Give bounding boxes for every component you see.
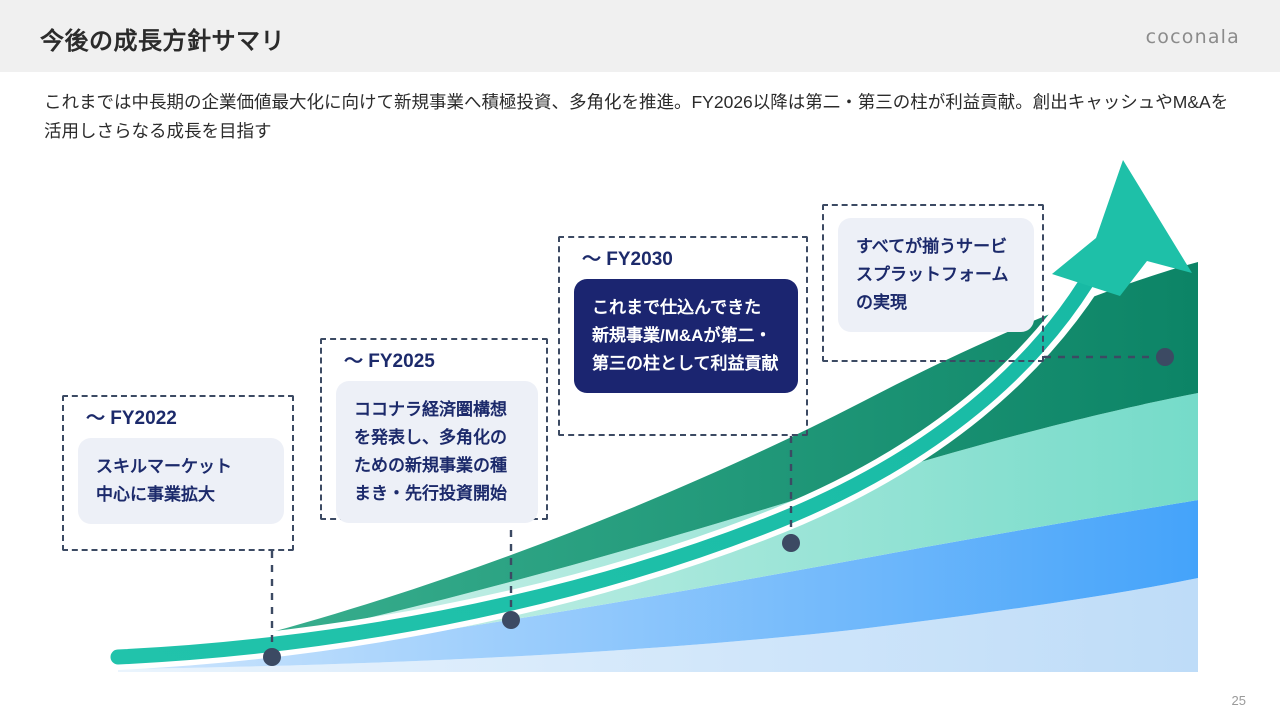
lead-paragraph: これまでは中長期の企業価値最大化に向けて新規事業へ積極投資、多角化を推進。FY2…: [44, 88, 1244, 146]
callout-fy2025[interactable]: 〜 FY2025 ココナラ経済圏構想 を発表し、多角化の ための新規事業の種 ま…: [320, 338, 548, 520]
callout-fy2022[interactable]: 〜 FY2022 スキルマーケット 中心に事業拡大: [62, 395, 294, 551]
callout-fy2025-label: 〜 FY2025: [322, 340, 546, 381]
callout-fy2030-box: これまで仕込んできた 新規事業/M&Aが第二・ 第三の柱として利益貢献: [574, 279, 798, 393]
slide-root: 今後の成長方針サマリ coconala これまでは中長期の企業価値最大化に向けて…: [0, 0, 1280, 720]
callout-fy2022-line2: 中心に事業拡大: [96, 481, 266, 509]
callout-fy2022-box: スキルマーケット 中心に事業拡大: [78, 438, 284, 524]
callout-vision-line1: すべてが揃うサービ: [856, 233, 1016, 261]
callout-fy2030-line2: 新規事業/M&Aが第二・: [592, 322, 780, 350]
callout-fy2030[interactable]: 〜 FY2030 これまで仕込んできた 新規事業/M&Aが第二・ 第三の柱として…: [558, 236, 808, 436]
callout-vision[interactable]: すべてが揃うサービ スプラットフォーム の実現: [822, 204, 1044, 362]
callout-vision-line3: の実現: [856, 289, 1016, 317]
page-number: 25: [1232, 693, 1246, 708]
callout-fy2022-line1: スキルマーケット: [96, 453, 266, 481]
marker-fy2030: [782, 534, 800, 552]
callout-fy2025-line4: まき・先行投資開始: [354, 480, 520, 508]
callout-fy2025-line1: ココナラ経済圏構想: [354, 396, 520, 424]
callout-fy2025-line3: ための新規事業の種: [354, 452, 520, 480]
callout-fy2022-label: 〜 FY2022: [64, 397, 292, 438]
callout-vision-box: すべてが揃うサービ スプラットフォーム の実現: [838, 218, 1034, 332]
callout-fy2025-box: ココナラ経済圏構想 を発表し、多角化の ための新規事業の種 まき・先行投資開始: [336, 381, 538, 523]
coconala-logo: coconala: [1146, 26, 1240, 48]
callout-fy2030-line1: これまで仕込んできた: [592, 294, 780, 322]
callout-fy2025-line2: を発表し、多角化の: [354, 424, 520, 452]
marker-fy2022: [263, 648, 281, 666]
callout-vision-line2: スプラットフォーム: [856, 261, 1016, 289]
marker-fy2025: [502, 611, 520, 629]
callout-fy2030-label: 〜 FY2030: [560, 238, 806, 279]
callout-fy2030-line3: 第三の柱として利益貢献: [592, 350, 780, 378]
page-title: 今後の成長方針サマリ: [40, 21, 285, 56]
marker-vision: [1156, 348, 1174, 366]
